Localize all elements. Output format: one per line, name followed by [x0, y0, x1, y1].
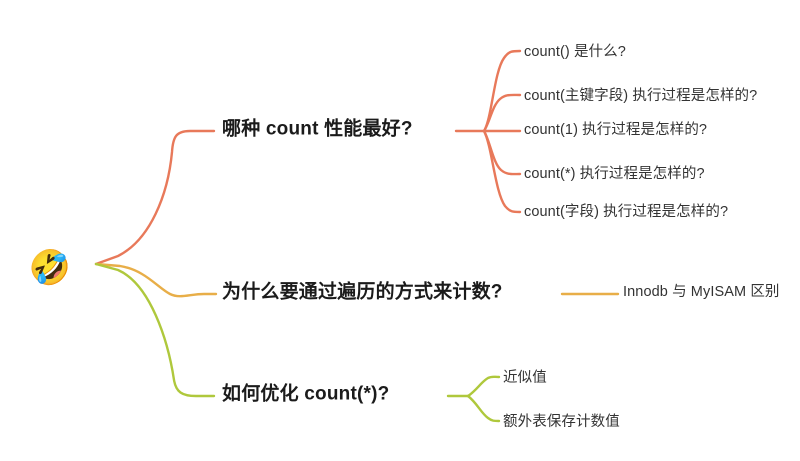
- sub-topic-b1-c5[interactable]: count(字段) 执行过程是怎样的?: [524, 205, 728, 220]
- mindmap-canvas: 🤣 哪种 count 性能最好? 为什么要通过遍历的方式来计数? 如何优化 co…: [0, 0, 800, 461]
- connector-b1-c4: [484, 131, 520, 174]
- rolling-on-the-floor-laughing-emoji: 🤣: [28, 246, 72, 290]
- connector-root-to-branch-2: [96, 264, 216, 296]
- root-node[interactable]: 🤣: [28, 246, 72, 290]
- sub-topic-b3-c2[interactable]: 额外表保存计数值: [503, 415, 620, 430]
- connector-root-to-branch-3: [96, 264, 214, 396]
- main-topic-branch-3[interactable]: 如何优化 count(*)?: [222, 385, 389, 404]
- mindmap-connectors: [0, 0, 800, 461]
- connector-b3-c1: [468, 377, 499, 396]
- main-topic-branch-1[interactable]: 哪种 count 性能最好?: [222, 120, 413, 139]
- sub-topic-b1-c1[interactable]: count() 是什么?: [524, 45, 626, 60]
- sub-topic-b2-c1[interactable]: Innodb 与 MyISAM 区别: [623, 285, 780, 300]
- sub-topic-b1-c2[interactable]: count(主键字段) 执行过程是怎样的?: [524, 89, 757, 104]
- sub-topic-b1-c3[interactable]: count(1) 执行过程是怎样的?: [524, 123, 707, 138]
- connector-b1-c5: [484, 131, 520, 212]
- main-topic-branch-2[interactable]: 为什么要通过遍历的方式来计数?: [222, 283, 503, 302]
- sub-topic-b3-c1[interactable]: 近似值: [503, 371, 547, 386]
- connector-b1-c2: [484, 95, 520, 131]
- connector-root-to-branch-1: [96, 131, 214, 264]
- connector-b1-c1: [484, 51, 520, 131]
- connector-b3-c2: [468, 396, 499, 421]
- sub-topic-b1-c4[interactable]: count(*) 执行过程是怎样的?: [524, 167, 705, 182]
